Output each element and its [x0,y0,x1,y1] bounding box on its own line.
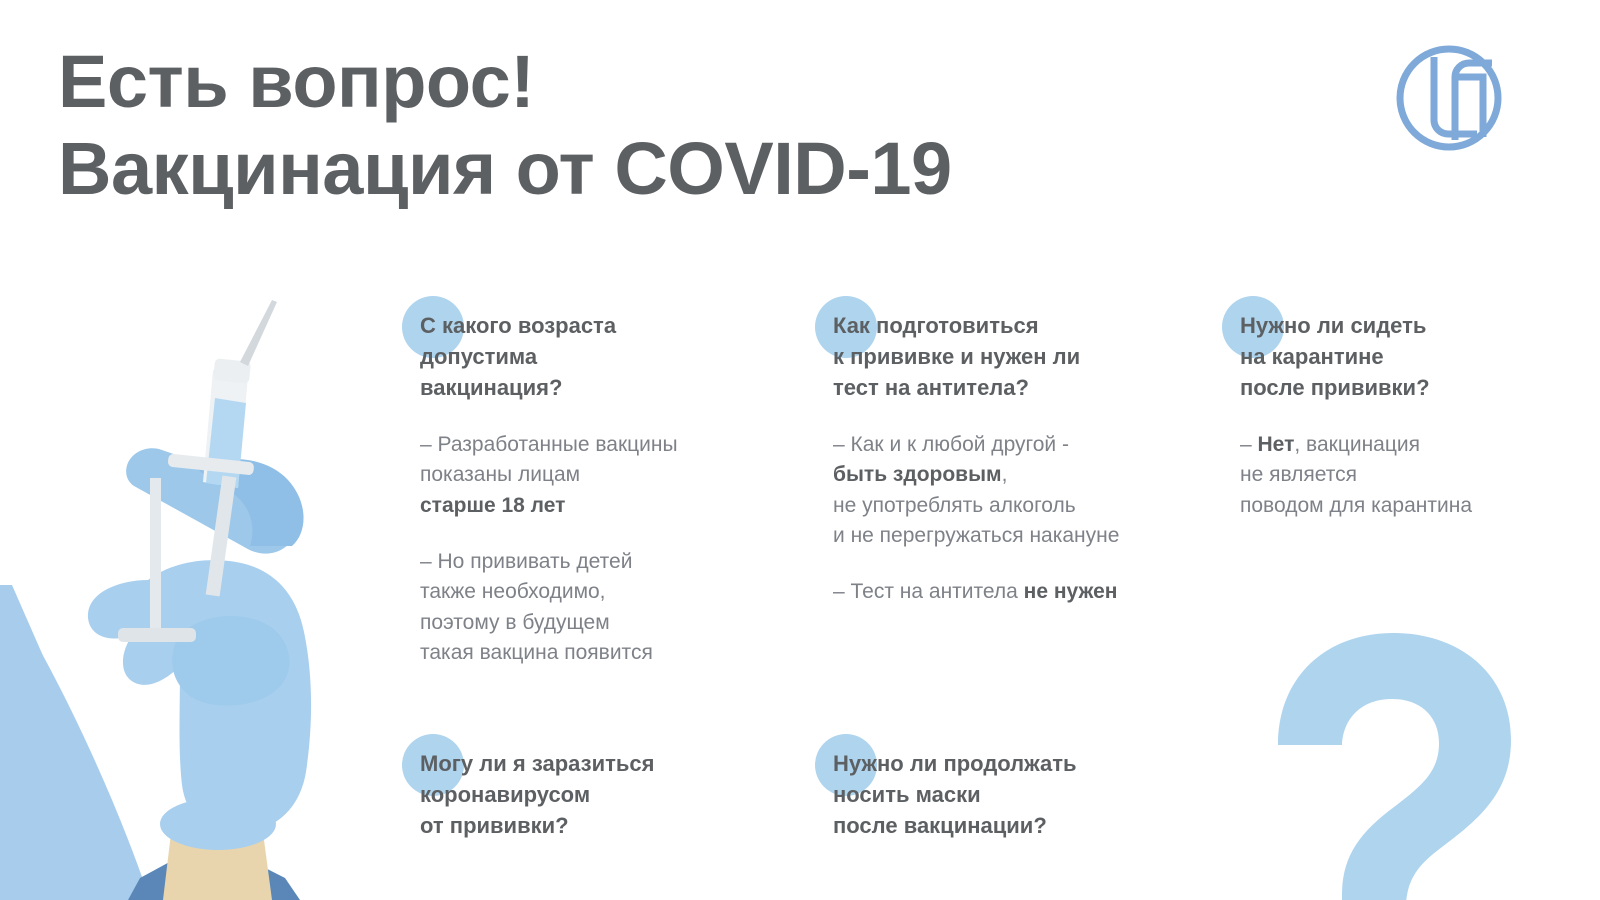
faq-answer-text: – Но прививать детей также необходимо, п… [420,550,653,664]
faq-question: С какого возраста допустима вакцинация? [420,310,740,404]
faq-item-prepare: Как подготовиться к прививке и нужен ли … [833,310,1178,608]
faq-answer: – Как и к любой другой - быть здоровым, … [833,430,1178,608]
gloved-hand-syringe-illustration [0,280,340,900]
faq-answer-emphasis: старше 18 лет [420,494,565,517]
brand-logo[interactable] [1393,42,1505,154]
faq-answer: – Нет, вакцинация не является поводом дл… [1240,430,1570,521]
faq-answer-paragraph: – Но прививать детей также необходимо, п… [420,547,740,669]
faq-question: Как подготовиться к прививке и нужен ли … [833,310,1178,404]
faq-answer-paragraph: – Тест на антитела не нужен [833,577,1178,607]
faq-question: Нужно ли продолжать носить маски после в… [833,748,1178,842]
faq-answer-paragraph: – Как и к любой другой - быть здоровым, … [833,430,1178,552]
faq-question: Могу ли я заразиться коронавирусом от пр… [420,748,740,842]
faq-answer-emphasis: Нет [1258,433,1295,456]
faq-answer-emphasis: быть здоровым [833,463,1002,486]
faq-answer-emphasis: не нужен [1024,580,1118,603]
decorative-question-mark [1218,595,1558,900]
faq-answer-paragraph: – Нет, вакцинация не является поводом дл… [1240,430,1570,521]
title-line-1: Есть вопрос! [58,38,1178,125]
faq-answer: – Разработанные вакцины показаны лицам с… [420,430,740,669]
title-line-2: Вакцинация от COVID-19 [58,125,1178,212]
faq-answer-text: – Как и к любой другой - [833,433,1069,456]
faq-answer-text: – Разработанные вакцины показаны лицам [420,433,678,486]
faq-answer-text: – [1240,433,1258,456]
faq-item-masks: Нужно ли продолжать носить маски после в… [833,748,1178,842]
slide-canvas: Есть вопрос! Вакцинация от COVID-19 [0,0,1600,900]
faq-item-infect: Могу ли я заразиться коронавирусом от пр… [420,748,740,842]
faq-item-age: С какого возраста допустима вакцинация? … [420,310,740,669]
faq-answer-text: – Тест на антитела [833,580,1024,603]
faq-answer-paragraph: – Разработанные вакцины показаны лицам с… [420,430,740,521]
page-title: Есть вопрос! Вакцинация от COVID-19 [58,38,1178,213]
faq-item-quarantine: Нужно ли сидеть на карантине после приви… [1240,310,1570,521]
faq-question: Нужно ли сидеть на карантине после приви… [1240,310,1570,404]
